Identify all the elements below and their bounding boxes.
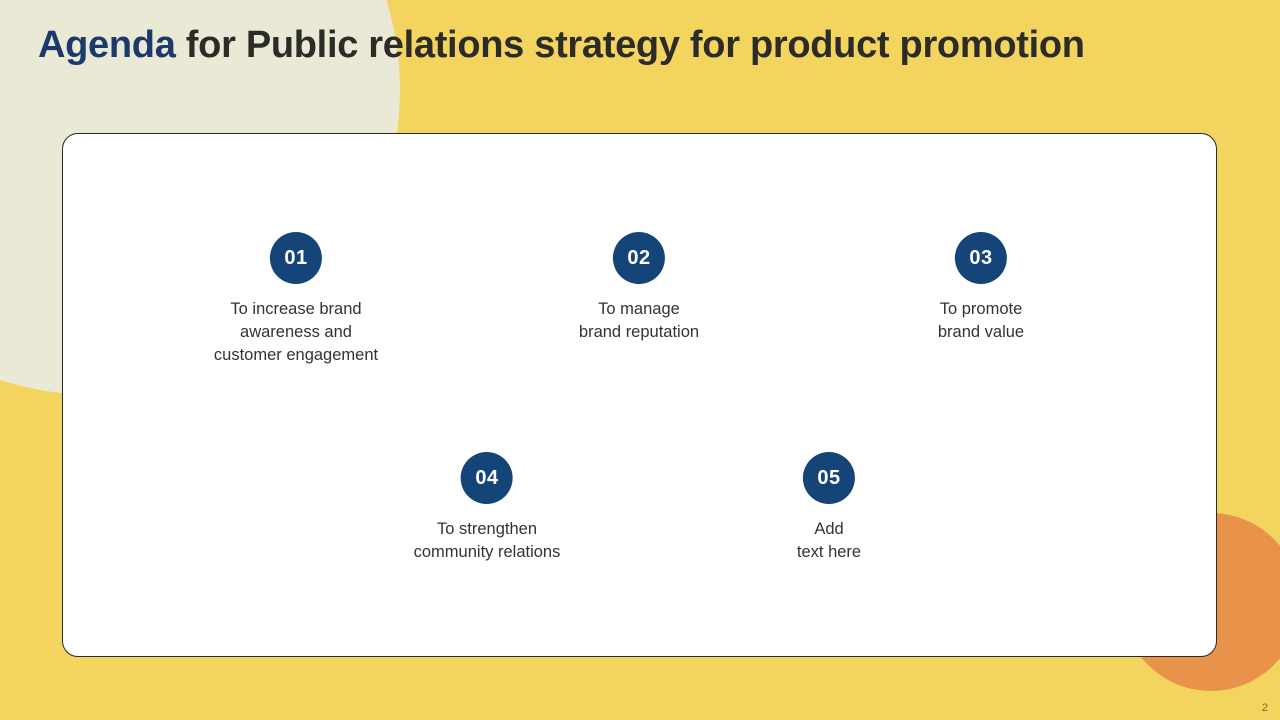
agenda-item-number-badge: 02 [613,232,665,284]
agenda-item-label: To strengthen community relations [414,518,561,564]
agenda-item[interactable]: 01To increase brand awareness and custom… [214,232,378,367]
agenda-item[interactable]: 03To promote brand value [938,232,1024,344]
agenda-item[interactable]: 04To strengthen community relations [414,452,561,564]
agenda-item-label: To increase brand awareness and customer… [214,298,378,367]
agenda-item-label: To manage brand reputation [579,298,699,344]
agenda-item[interactable]: 05Add text here [797,452,861,564]
agenda-item-label: Add text here [797,518,861,564]
agenda-item-number-badge: 03 [955,232,1007,284]
agenda-item-label: To promote brand value [938,298,1024,344]
agenda-item-number-badge: 05 [803,452,855,504]
slide-canvas: Agenda for Public relations strategy for… [0,0,1280,720]
page-number: 2 [1262,702,1268,714]
agenda-item[interactable]: 02To manage brand reputation [579,232,699,344]
agenda-item-number-badge: 01 [270,232,322,284]
agenda-item-number-badge: 04 [461,452,513,504]
agenda-items-layer: 01To increase brand awareness and custom… [0,0,1280,720]
